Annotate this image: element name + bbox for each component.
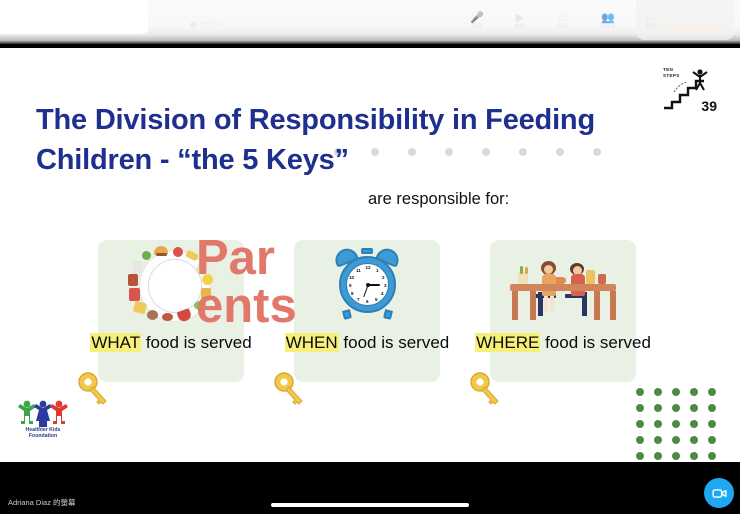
green-dot [672, 420, 680, 428]
green-dot [690, 404, 698, 412]
card-when-caption-rest: food is served [339, 333, 450, 352]
toolbar-item-share[interactable]: □ 共用 [548, 12, 578, 31]
more-icon: ⋯ [636, 12, 666, 24]
slide-title: The Division of Responsibility in Feedin… [36, 100, 626, 180]
healthier-kids-foundation-logo: Healthier Kids Foundation [12, 398, 74, 442]
green-dot [708, 436, 716, 444]
participants-icon: 👥 [591, 12, 625, 24]
green-dot [636, 452, 644, 460]
green-dot [690, 452, 698, 460]
gold-key-icon [468, 370, 508, 410]
green-dot [654, 436, 662, 444]
green-dot [654, 452, 662, 460]
video-icon: ▶ [505, 12, 535, 24]
green-dot [672, 388, 680, 396]
kids-at-table-icon [490, 244, 636, 328]
green-dot [654, 388, 662, 396]
alarm-clock-icon: 12 1 2 3 4 5 6 7 8 9 10 11 [294, 244, 440, 328]
card-when-caption: WHEN food is served [276, 332, 458, 353]
shared-slide: The Division of Responsibility in Feedin… [0, 48, 740, 462]
toolbar-item-share-label: 共用 [548, 24, 578, 31]
toolbar-left-panel [0, 0, 148, 34]
clock-numeral: 11 [356, 268, 361, 273]
toolbar-item-mic[interactable]: 🎤 靜音 [462, 12, 492, 31]
clock-numeral: 4 [381, 291, 384, 296]
toolbar-item-video-label: 視訊 [505, 24, 535, 31]
clock-numeral: 10 [349, 275, 354, 280]
card-what-keyword: WHAT [90, 333, 141, 352]
sharing-status-dot [190, 22, 196, 28]
card-where-keyword: WHERE [475, 333, 540, 352]
green-dot [708, 452, 716, 460]
foundation-logo-line2: Foundation [12, 433, 74, 439]
green-dot [690, 420, 698, 428]
meeting-toolbar: 共用中 🎤 靜音 ▶ 視訊 □ 共用 👥 參與者 ⋯ 更多 [0, 0, 740, 44]
three-figures-icon [12, 398, 74, 428]
toolbar-item-participants-label: 參與者 [591, 24, 625, 31]
parents-word: Parents [196, 234, 300, 330]
decorative-green-dot-grid [636, 388, 718, 460]
ten-steps-number: 39 [701, 98, 717, 114]
toolbar-item-video[interactable]: ▶ 視訊 [505, 12, 535, 31]
card-where: WHERE food is served [490, 240, 636, 382]
clock-numeral: 5 [375, 297, 378, 302]
home-indicator[interactable] [271, 503, 469, 507]
green-dot [636, 404, 644, 412]
green-dot [636, 436, 644, 444]
green-dot [654, 404, 662, 412]
sharing-status-label: 共用中 [200, 20, 224, 31]
screen-share-view: 共用中 🎤 靜音 ▶ 視訊 □ 共用 👥 參與者 ⋯ 更多 [0, 0, 740, 514]
ten-steps-logo: TEN STEPS 39 [660, 62, 718, 114]
card-when-keyword: WHEN [285, 333, 339, 352]
green-dot [690, 388, 698, 396]
video-toggle-button[interactable] [704, 478, 734, 508]
toolbar-item-more[interactable]: ⋯ 更多 [636, 12, 666, 31]
video-camera-icon [711, 485, 728, 502]
toolbar-item-more-label: 更多 [636, 24, 666, 31]
green-dot [708, 404, 716, 412]
clock-numeral: 3 [384, 283, 387, 288]
green-dot [708, 420, 716, 428]
bottom-bar: Adriana Diaz 的螢幕 [0, 462, 740, 514]
gold-key-icon [272, 370, 312, 410]
green-dot [672, 436, 680, 444]
green-dot [708, 388, 716, 396]
share-source-label: Adriana Diaz 的螢幕 [8, 497, 76, 508]
card-what-caption-rest: food is served [141, 333, 252, 352]
card-where-caption: WHERE food is served [472, 332, 654, 353]
clock-numeral: 1 [376, 268, 379, 273]
clock-numeral: 7 [357, 297, 360, 302]
toolbar-item-mic-label: 靜音 [462, 24, 492, 31]
clock-numeral: 8 [351, 291, 354, 296]
clock-numeral: 12 [366, 265, 371, 270]
clock-numeral: 6 [366, 299, 369, 304]
green-dot [690, 436, 698, 444]
gold-key-icon [76, 370, 116, 410]
card-when: 12 1 2 3 4 5 6 7 8 9 10 11 [294, 240, 440, 382]
card-what-caption: WHAT food is served [80, 332, 262, 353]
green-dot [672, 452, 680, 460]
clock-numeral: 9 [349, 283, 352, 288]
card-where-caption-rest: food is served [540, 333, 651, 352]
green-dot [654, 420, 662, 428]
toolbar-leave-pill[interactable] [664, 22, 726, 33]
clock-numeral: 2 [382, 275, 385, 280]
share-icon: □ [548, 12, 578, 24]
responsible-text: are responsible for: [368, 188, 509, 210]
green-dot [636, 420, 644, 428]
toolbar-item-participants[interactable]: 👥 參與者 [591, 12, 625, 31]
green-dot [636, 388, 644, 396]
mic-icon: 🎤 [462, 12, 492, 24]
green-dot [672, 404, 680, 412]
